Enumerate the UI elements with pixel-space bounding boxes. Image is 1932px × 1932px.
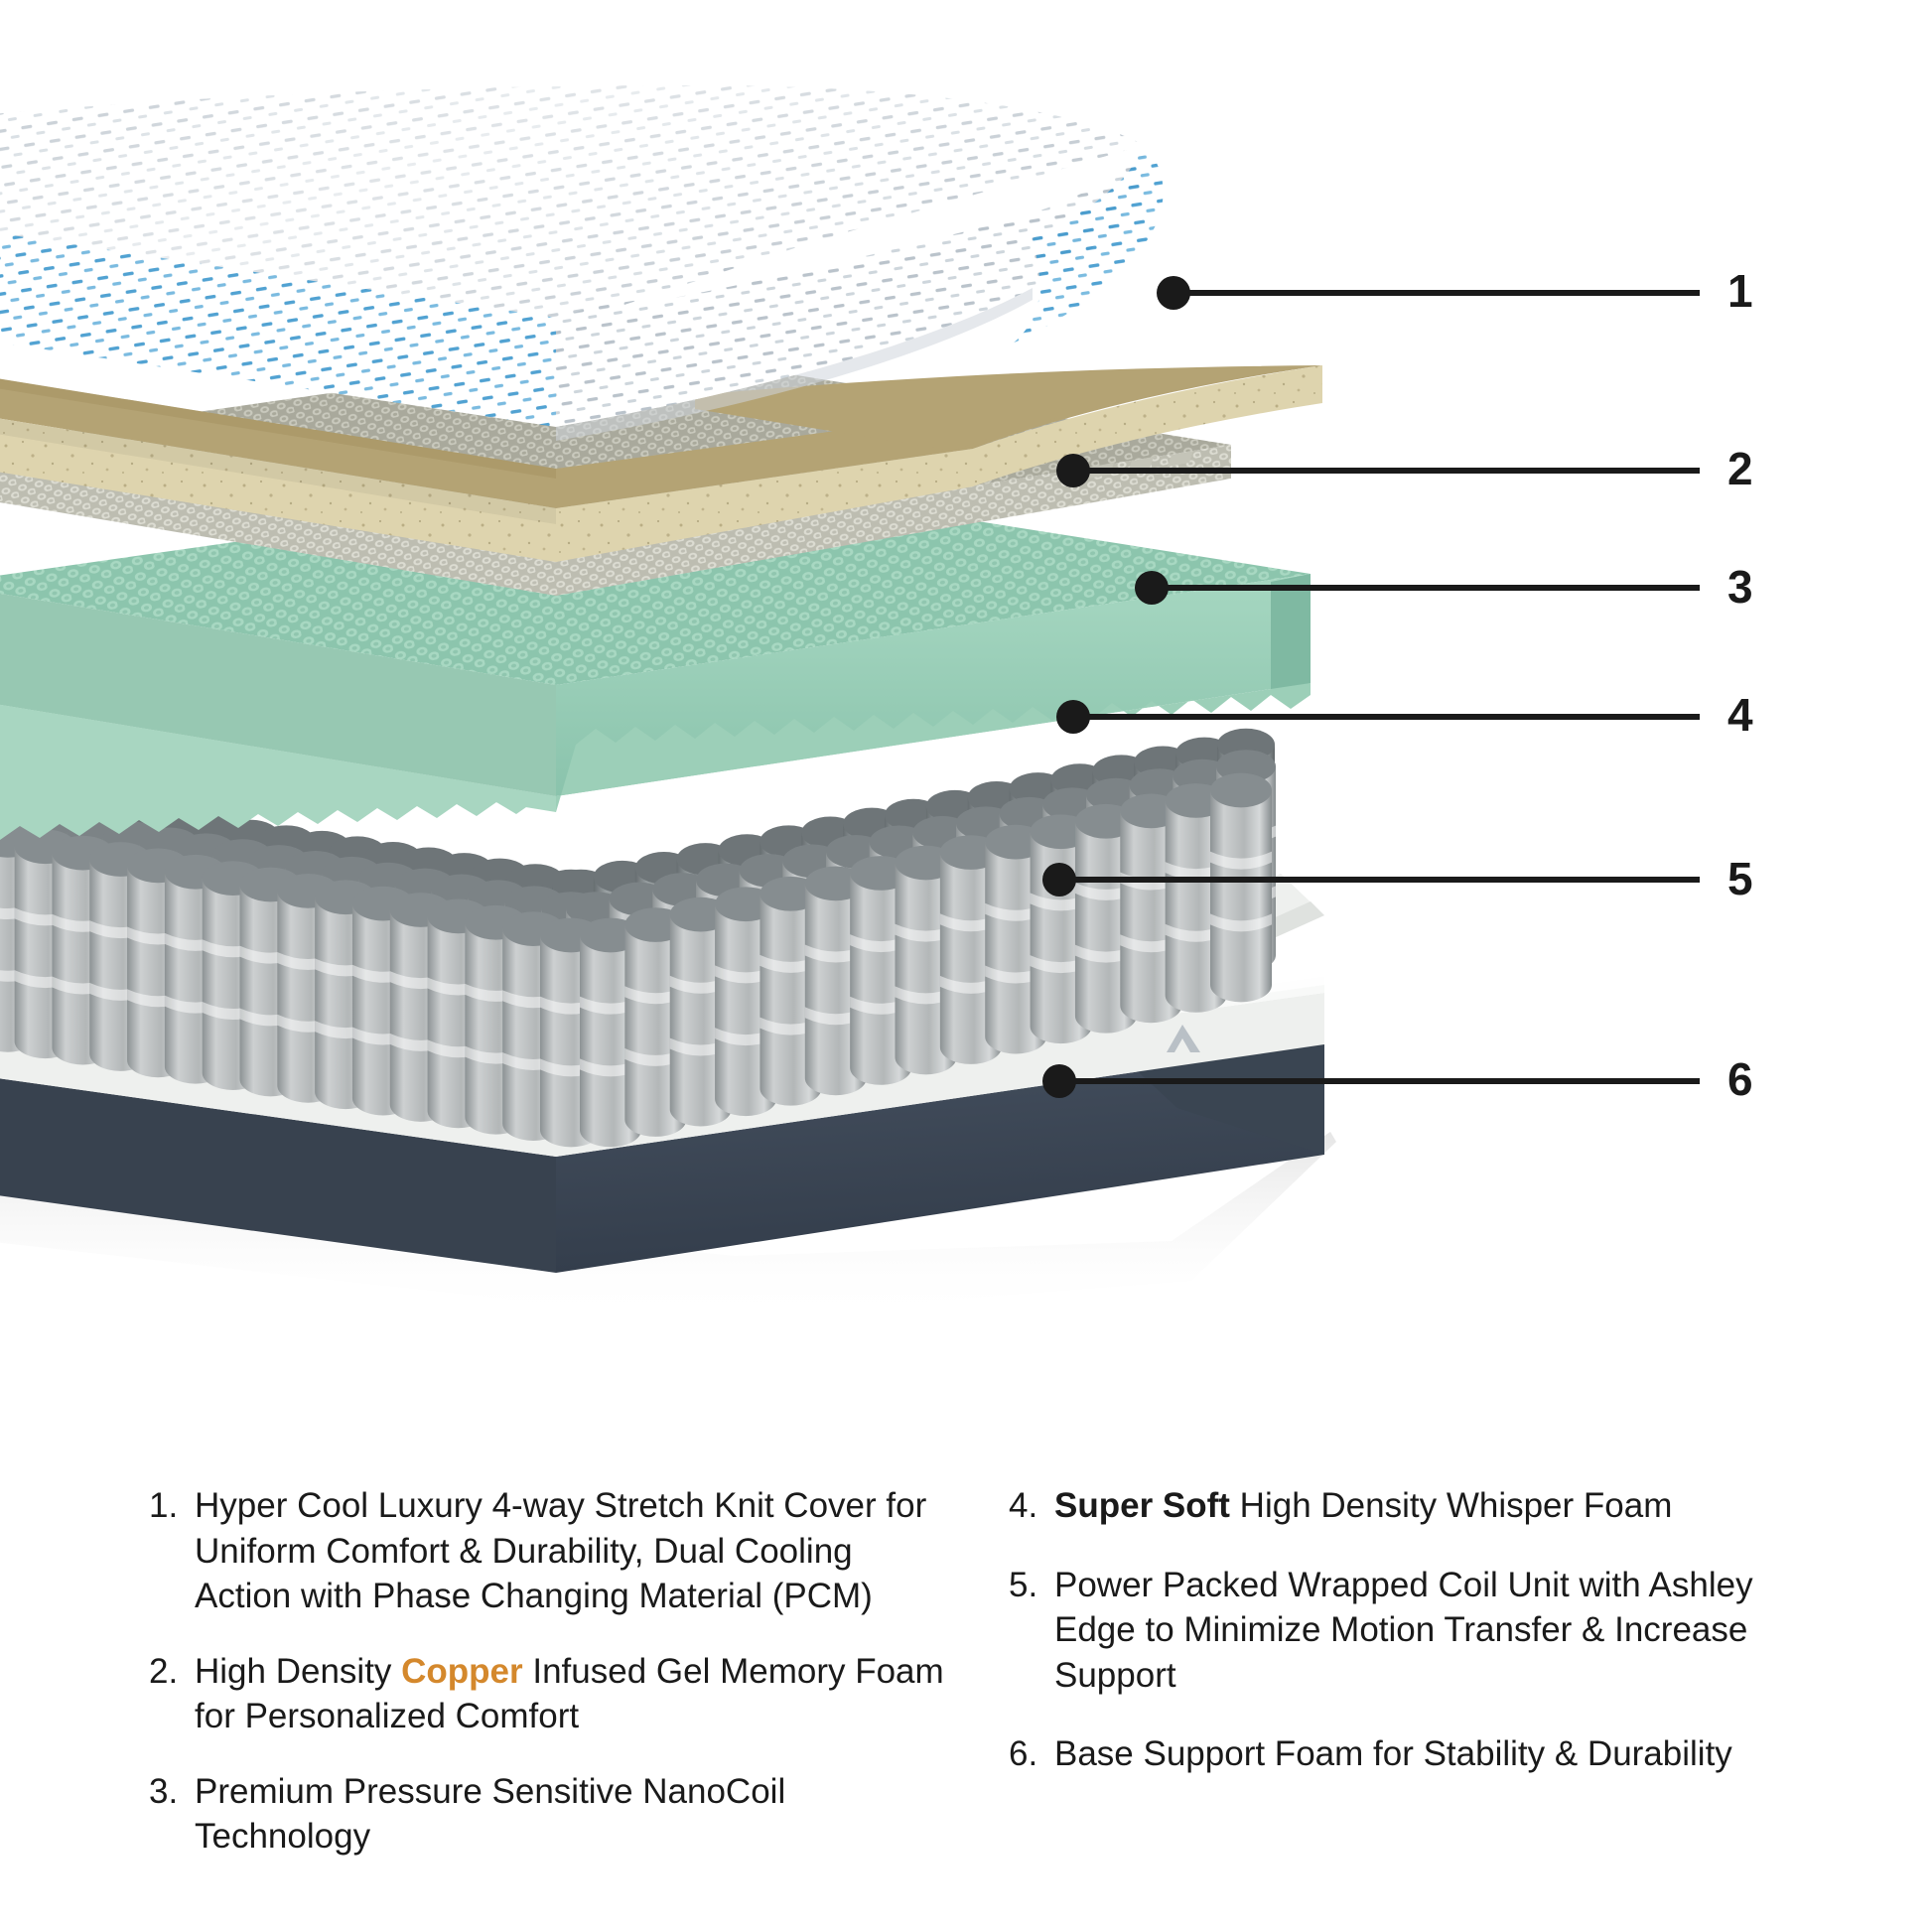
- legend-number-2: 2.: [149, 1649, 195, 1695]
- leader-dot-6: [1042, 1064, 1076, 1098]
- legend-number-3: 3.: [149, 1769, 195, 1815]
- callout-number-1: 1: [1727, 268, 1753, 314]
- callout-number-4: 4: [1727, 692, 1753, 738]
- legend-text-6: Base Support Foam for Stability & Durabi…: [1054, 1731, 1813, 1777]
- legend-text-4: Super Soft High Density Whisper Foam: [1054, 1483, 1813, 1529]
- callout-number-3: 3: [1727, 564, 1753, 610]
- callout-leader-lines: [0, 0, 1932, 1410]
- legend-number-4: 4.: [1009, 1483, 1054, 1529]
- leader-dot-2: [1056, 454, 1090, 487]
- legend-item-4: 4. Super Soft High Density Whisper Foam: [1009, 1483, 1813, 1529]
- legend-text-2: High Density Copper Infused Gel Memory F…: [195, 1649, 953, 1739]
- legend-column-left: 1. Hyper Cool Luxury 4-way Stretch Knit …: [149, 1483, 953, 1860]
- feature-legend: 1. Hyper Cool Luxury 4-way Stretch Knit …: [149, 1483, 1837, 1860]
- leader-dot-5: [1042, 863, 1076, 897]
- legend-text-1: Hyper Cool Luxury 4-way Stretch Knit Cov…: [195, 1483, 953, 1619]
- legend-item-2: 2. High Density Copper Infused Gel Memor…: [149, 1649, 953, 1739]
- legend-item-6: 6. Base Support Foam for Stability & Dur…: [1009, 1731, 1813, 1777]
- callout-number-6: 6: [1727, 1056, 1753, 1102]
- legend-text-5: Power Packed Wrapped Coil Unit with Ashl…: [1054, 1563, 1813, 1699]
- legend-item-3: 3. Premium Pressure Sensitive NanoCoil T…: [149, 1769, 953, 1860]
- legend-text-3: Premium Pressure Sensitive NanoCoil Tech…: [195, 1769, 953, 1860]
- leader-dot-4: [1056, 700, 1090, 734]
- legend-number-1: 1.: [149, 1483, 195, 1529]
- legend-number-5: 5.: [1009, 1563, 1054, 1608]
- leader-dot-3: [1135, 571, 1169, 605]
- legend-item-1: 1. Hyper Cool Luxury 4-way Stretch Knit …: [149, 1483, 953, 1619]
- mattress-cutaway-page: 1 2 3 4 5 6 1. Hyper Cool Luxury 4-way S…: [0, 0, 1932, 1932]
- leader-dot-1: [1157, 276, 1190, 310]
- legend-item-5: 5. Power Packed Wrapped Coil Unit with A…: [1009, 1563, 1813, 1699]
- legend-number-6: 6.: [1009, 1731, 1054, 1777]
- callout-number-5: 5: [1727, 856, 1753, 901]
- legend-column-right: 4. Super Soft High Density Whisper Foam …: [1009, 1483, 1813, 1860]
- callout-number-2: 2: [1727, 446, 1753, 491]
